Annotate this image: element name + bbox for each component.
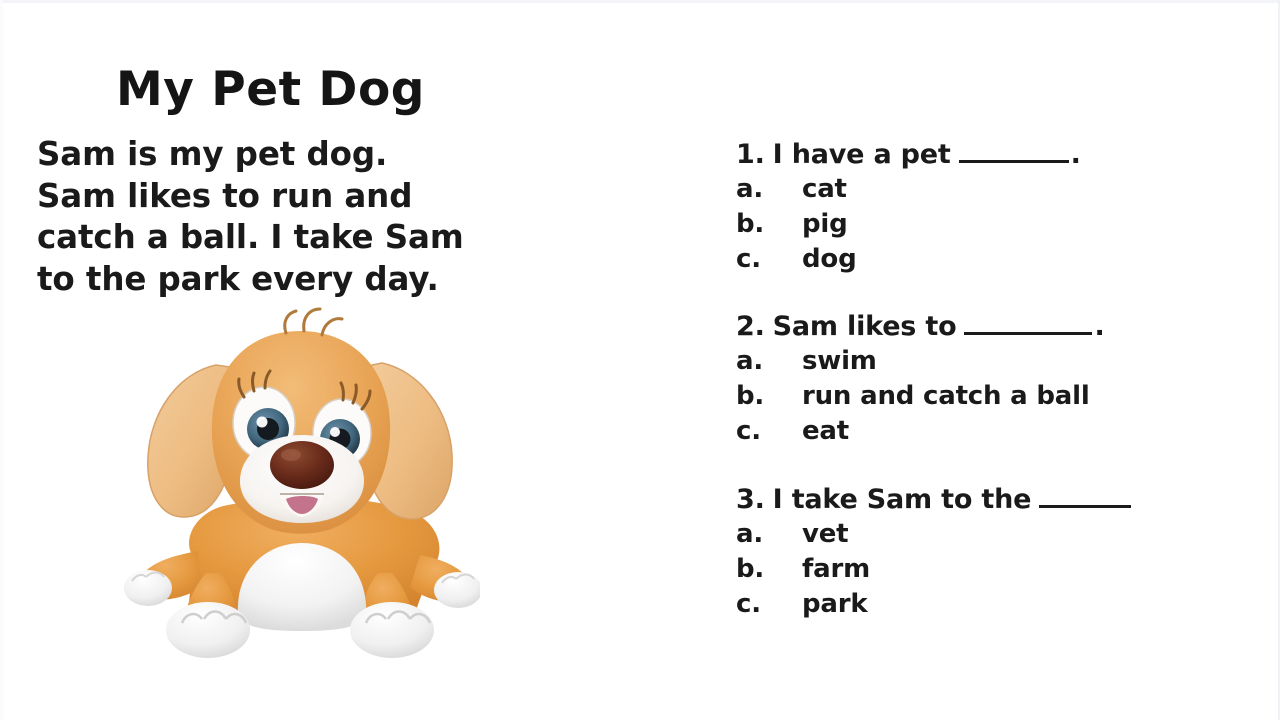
dog-nose — [270, 441, 334, 489]
questions-column: 1. I have a pet . a. cat b. pig c. dog 2… — [736, 0, 1280, 720]
option-text-1a: cat — [802, 172, 847, 207]
option-2a[interactable]: a. swim — [736, 344, 1280, 379]
option-text-3b: farm — [802, 552, 870, 587]
question-number-2: 2. — [736, 310, 765, 344]
option-letter-3a: a. — [736, 517, 802, 552]
option-2b[interactable]: b. run and catch a ball — [736, 379, 1280, 414]
passage-column: My Pet Dog Sam is my pet dog. Sam likes … — [0, 0, 640, 720]
option-text-1c: dog — [802, 242, 857, 277]
question-stem-2: 2. Sam likes to . — [736, 310, 1280, 344]
option-3a[interactable]: a. vet — [736, 517, 1280, 552]
option-letter-3b: b. — [736, 552, 802, 587]
option-3c[interactable]: c. park — [736, 587, 1280, 622]
answer-blank-3[interactable] — [1039, 487, 1131, 508]
cartoon-puppy-illustration — [120, 305, 480, 660]
option-1c[interactable]: c. dog — [736, 242, 1280, 277]
question-block-1: 1. I have a pet . a. cat b. pig c. dog — [736, 138, 1280, 277]
question-punctuation-2: . — [1094, 310, 1104, 344]
question-stem-1: 1. I have a pet . — [736, 138, 1280, 172]
worksheet-page: My Pet Dog Sam is my pet dog. Sam likes … — [0, 0, 1280, 720]
option-letter-2b: b. — [736, 379, 802, 414]
question-stem-3: 3. I take Sam to the — [736, 483, 1280, 517]
option-text-2a: swim — [802, 344, 877, 379]
question-text-3: I take Sam to the — [773, 483, 1032, 517]
option-text-2b: run and catch a ball — [802, 379, 1090, 414]
passage-line: to the park every day. — [37, 259, 567, 301]
option-letter-1a: a. — [736, 172, 802, 207]
option-letter-1b: b. — [736, 207, 802, 242]
option-1a[interactable]: a. cat — [736, 172, 1280, 207]
question-text-1: I have a pet — [773, 138, 951, 172]
answer-blank-2[interactable] — [964, 314, 1092, 335]
option-letter-3c: c. — [736, 587, 802, 622]
dog-head-tuft — [285, 309, 342, 335]
passage-line: Sam likes to run and — [37, 176, 567, 218]
option-text-3a: vet — [802, 517, 848, 552]
question-text-2: Sam likes to — [773, 310, 957, 344]
question-punctuation-1: . — [1071, 138, 1081, 172]
question-block-2: 2. Sam likes to . a. swim b. run and cat… — [736, 310, 1280, 449]
page-title: My Pet Dog — [116, 62, 425, 117]
question-block-3: 3. I take Sam to the a. vet b. farm c. p… — [736, 483, 1280, 622]
question-number-3: 3. — [736, 483, 765, 517]
option-2c[interactable]: c. eat — [736, 414, 1280, 449]
answer-blank-1[interactable] — [959, 142, 1069, 163]
option-letter-2c: c. — [736, 414, 802, 449]
option-text-1b: pig — [802, 207, 848, 242]
passage-line: catch a ball. I take Sam — [37, 217, 567, 259]
option-3b[interactable]: b. farm — [736, 552, 1280, 587]
passage-text: Sam is my pet dog. Sam likes to run and … — [37, 134, 567, 300]
option-letter-2a: a. — [736, 344, 802, 379]
option-text-2c: eat — [802, 414, 849, 449]
passage-line: Sam is my pet dog. — [37, 134, 567, 176]
option-1b[interactable]: b. pig — [736, 207, 1280, 242]
option-letter-1c: c. — [736, 242, 802, 277]
question-number-1: 1. — [736, 138, 765, 172]
option-text-3c: park — [802, 587, 867, 622]
